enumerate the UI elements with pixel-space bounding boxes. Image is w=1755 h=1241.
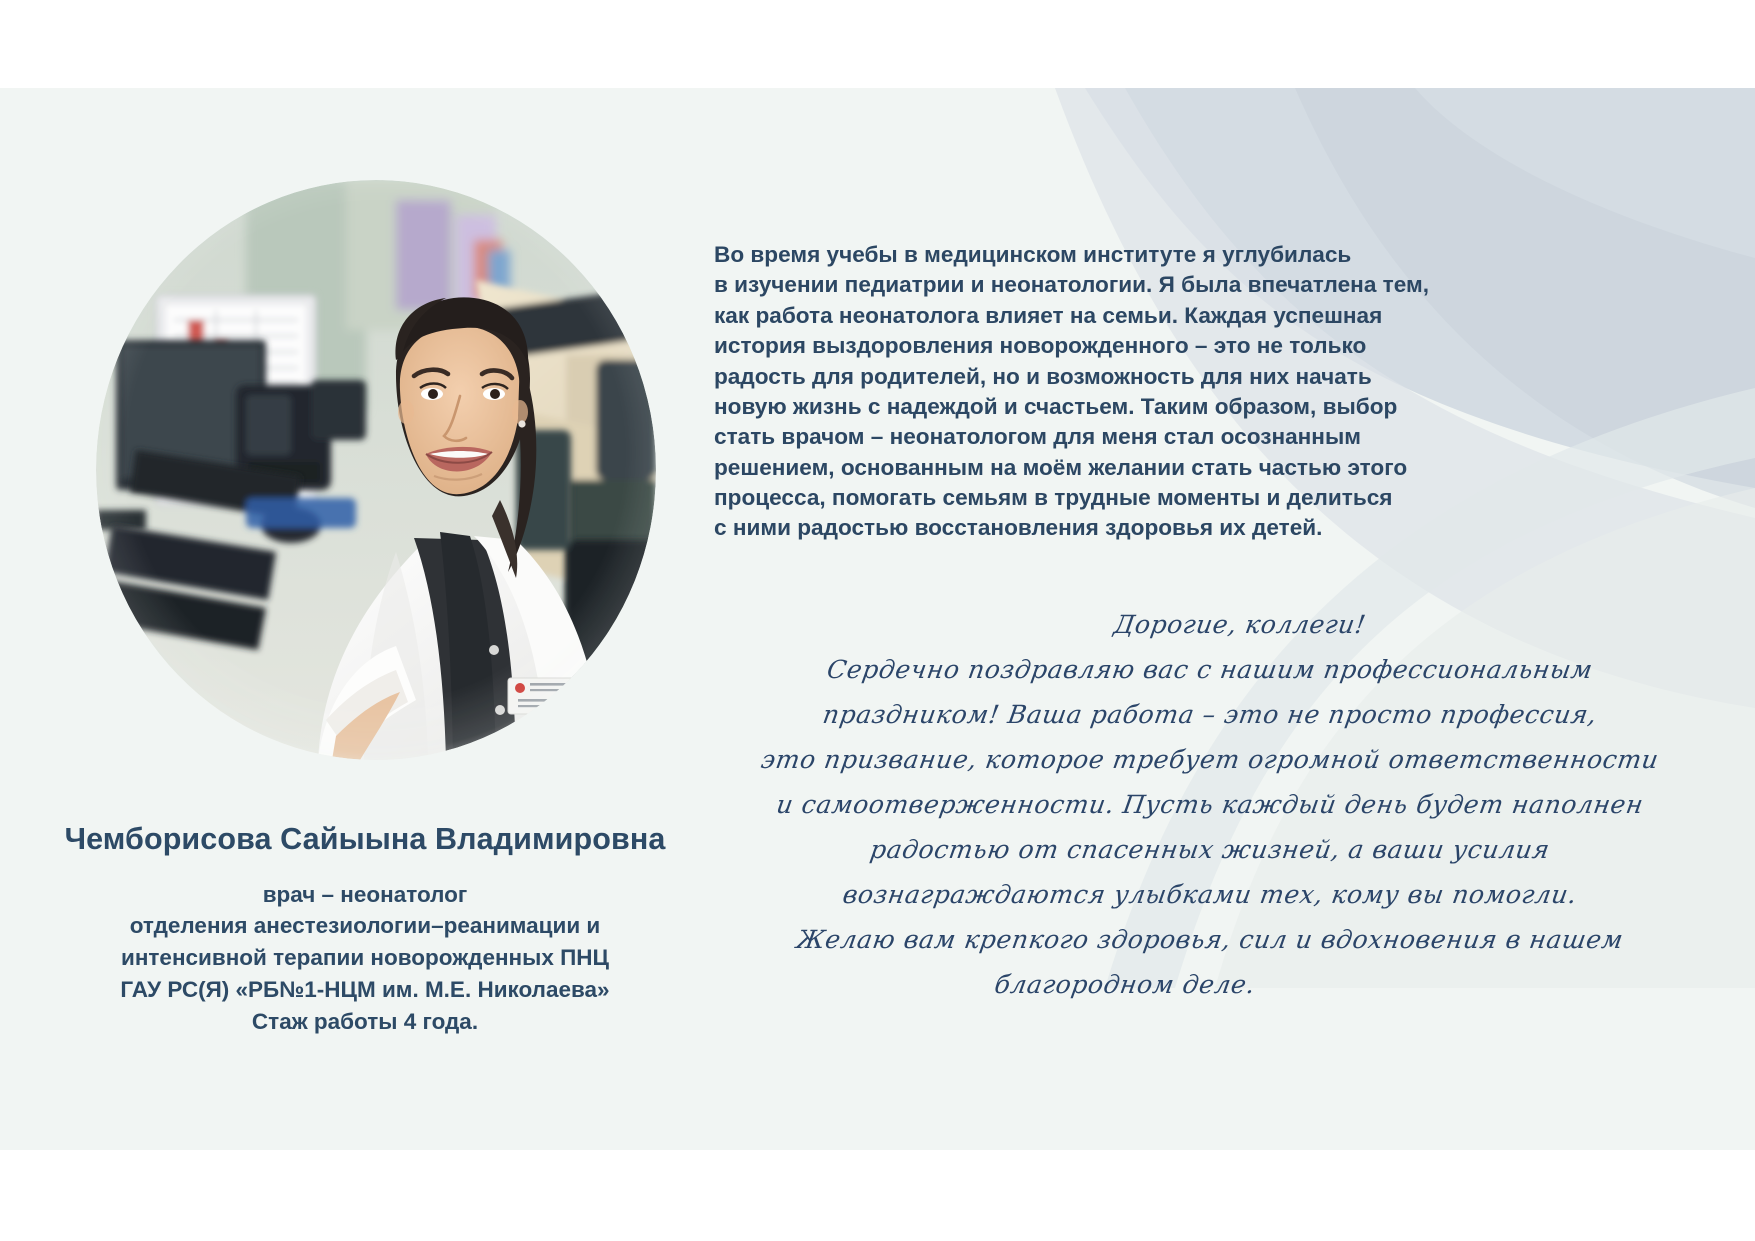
story-line: новую жизнь с надеждой и счастьем. Таким… <box>714 392 1514 422</box>
greeting-line: праздником! Ваша работа – это не просто … <box>698 702 1722 727</box>
story-line: с ними радостью восстановления здоровья … <box>714 513 1514 543</box>
greeting-line: это призвание, которое требует огромной … <box>698 747 1722 772</box>
greeting-line: вознаграждаются улыбками тех, кому вы по… <box>698 882 1722 907</box>
svg-text:NC: NC <box>562 689 581 704</box>
credential-line: интенсивной терапии новорожденных ПНЦ <box>10 942 720 974</box>
credential-line: отделения анестезиологии–реанимации и <box>10 910 720 942</box>
greeting-line: и самоотверженности. Пусть каждый день б… <box>698 792 1722 817</box>
story-line: в изучении педиатрии и неонатологии. Я б… <box>714 270 1514 300</box>
greeting-line: радостью от спасенных жизней, а ваши уси… <box>698 837 1722 862</box>
doctor-photo-icon: NC <box>96 180 656 760</box>
story-line: как работа неонатолога влияет на семьи. … <box>714 301 1514 331</box>
greeting-line: благородном деле. <box>698 972 1722 997</box>
story-line: стать врачом – неонатологом для меня ста… <box>714 422 1514 452</box>
story-line: Во время учебы в медицинском институте я… <box>714 240 1514 270</box>
portrait-container: NC <box>96 180 656 760</box>
person-info: Чемборисова Сайыына Владимировна врач – … <box>10 823 720 1038</box>
story-line: история выздоровления новорожденного – э… <box>714 331 1514 361</box>
story-paragraph: Во время учебы в медицинском институте я… <box>714 240 1514 544</box>
credential-line: ГАУ РС(Я) «РБ№1-НЦМ им. М.Е. Николаева» <box>10 974 720 1006</box>
greeting-line: Желаю вам крепкого здоровья, сил и вдохн… <box>698 927 1722 952</box>
slide-canvas: NC <box>0 88 1755 1150</box>
page-title: Чемборисова Сайыына Владимировна <box>10 823 720 857</box>
credential-line: Стаж работы 4 года. <box>10 1006 720 1038</box>
greeting-message: Дорогие, коллеги! Сердечно поздравляю ва… <box>700 608 1720 997</box>
greeting-line: Дорогие, коллеги! <box>698 612 1722 637</box>
credential-line: врач – неонатолог <box>10 879 720 911</box>
avatar: NC <box>96 180 656 760</box>
story-line: процесса, помогать семьям в трудные моме… <box>714 483 1514 513</box>
person-credentials: врач – неонатолог отделения анестезиолог… <box>10 879 720 1039</box>
story-line: радость для родителей, но и возможность … <box>714 362 1514 392</box>
story-line: решением, основанным на моём желании ста… <box>714 453 1514 483</box>
greeting-line: Сердечно поздравляю вас с нашим професси… <box>698 657 1722 682</box>
